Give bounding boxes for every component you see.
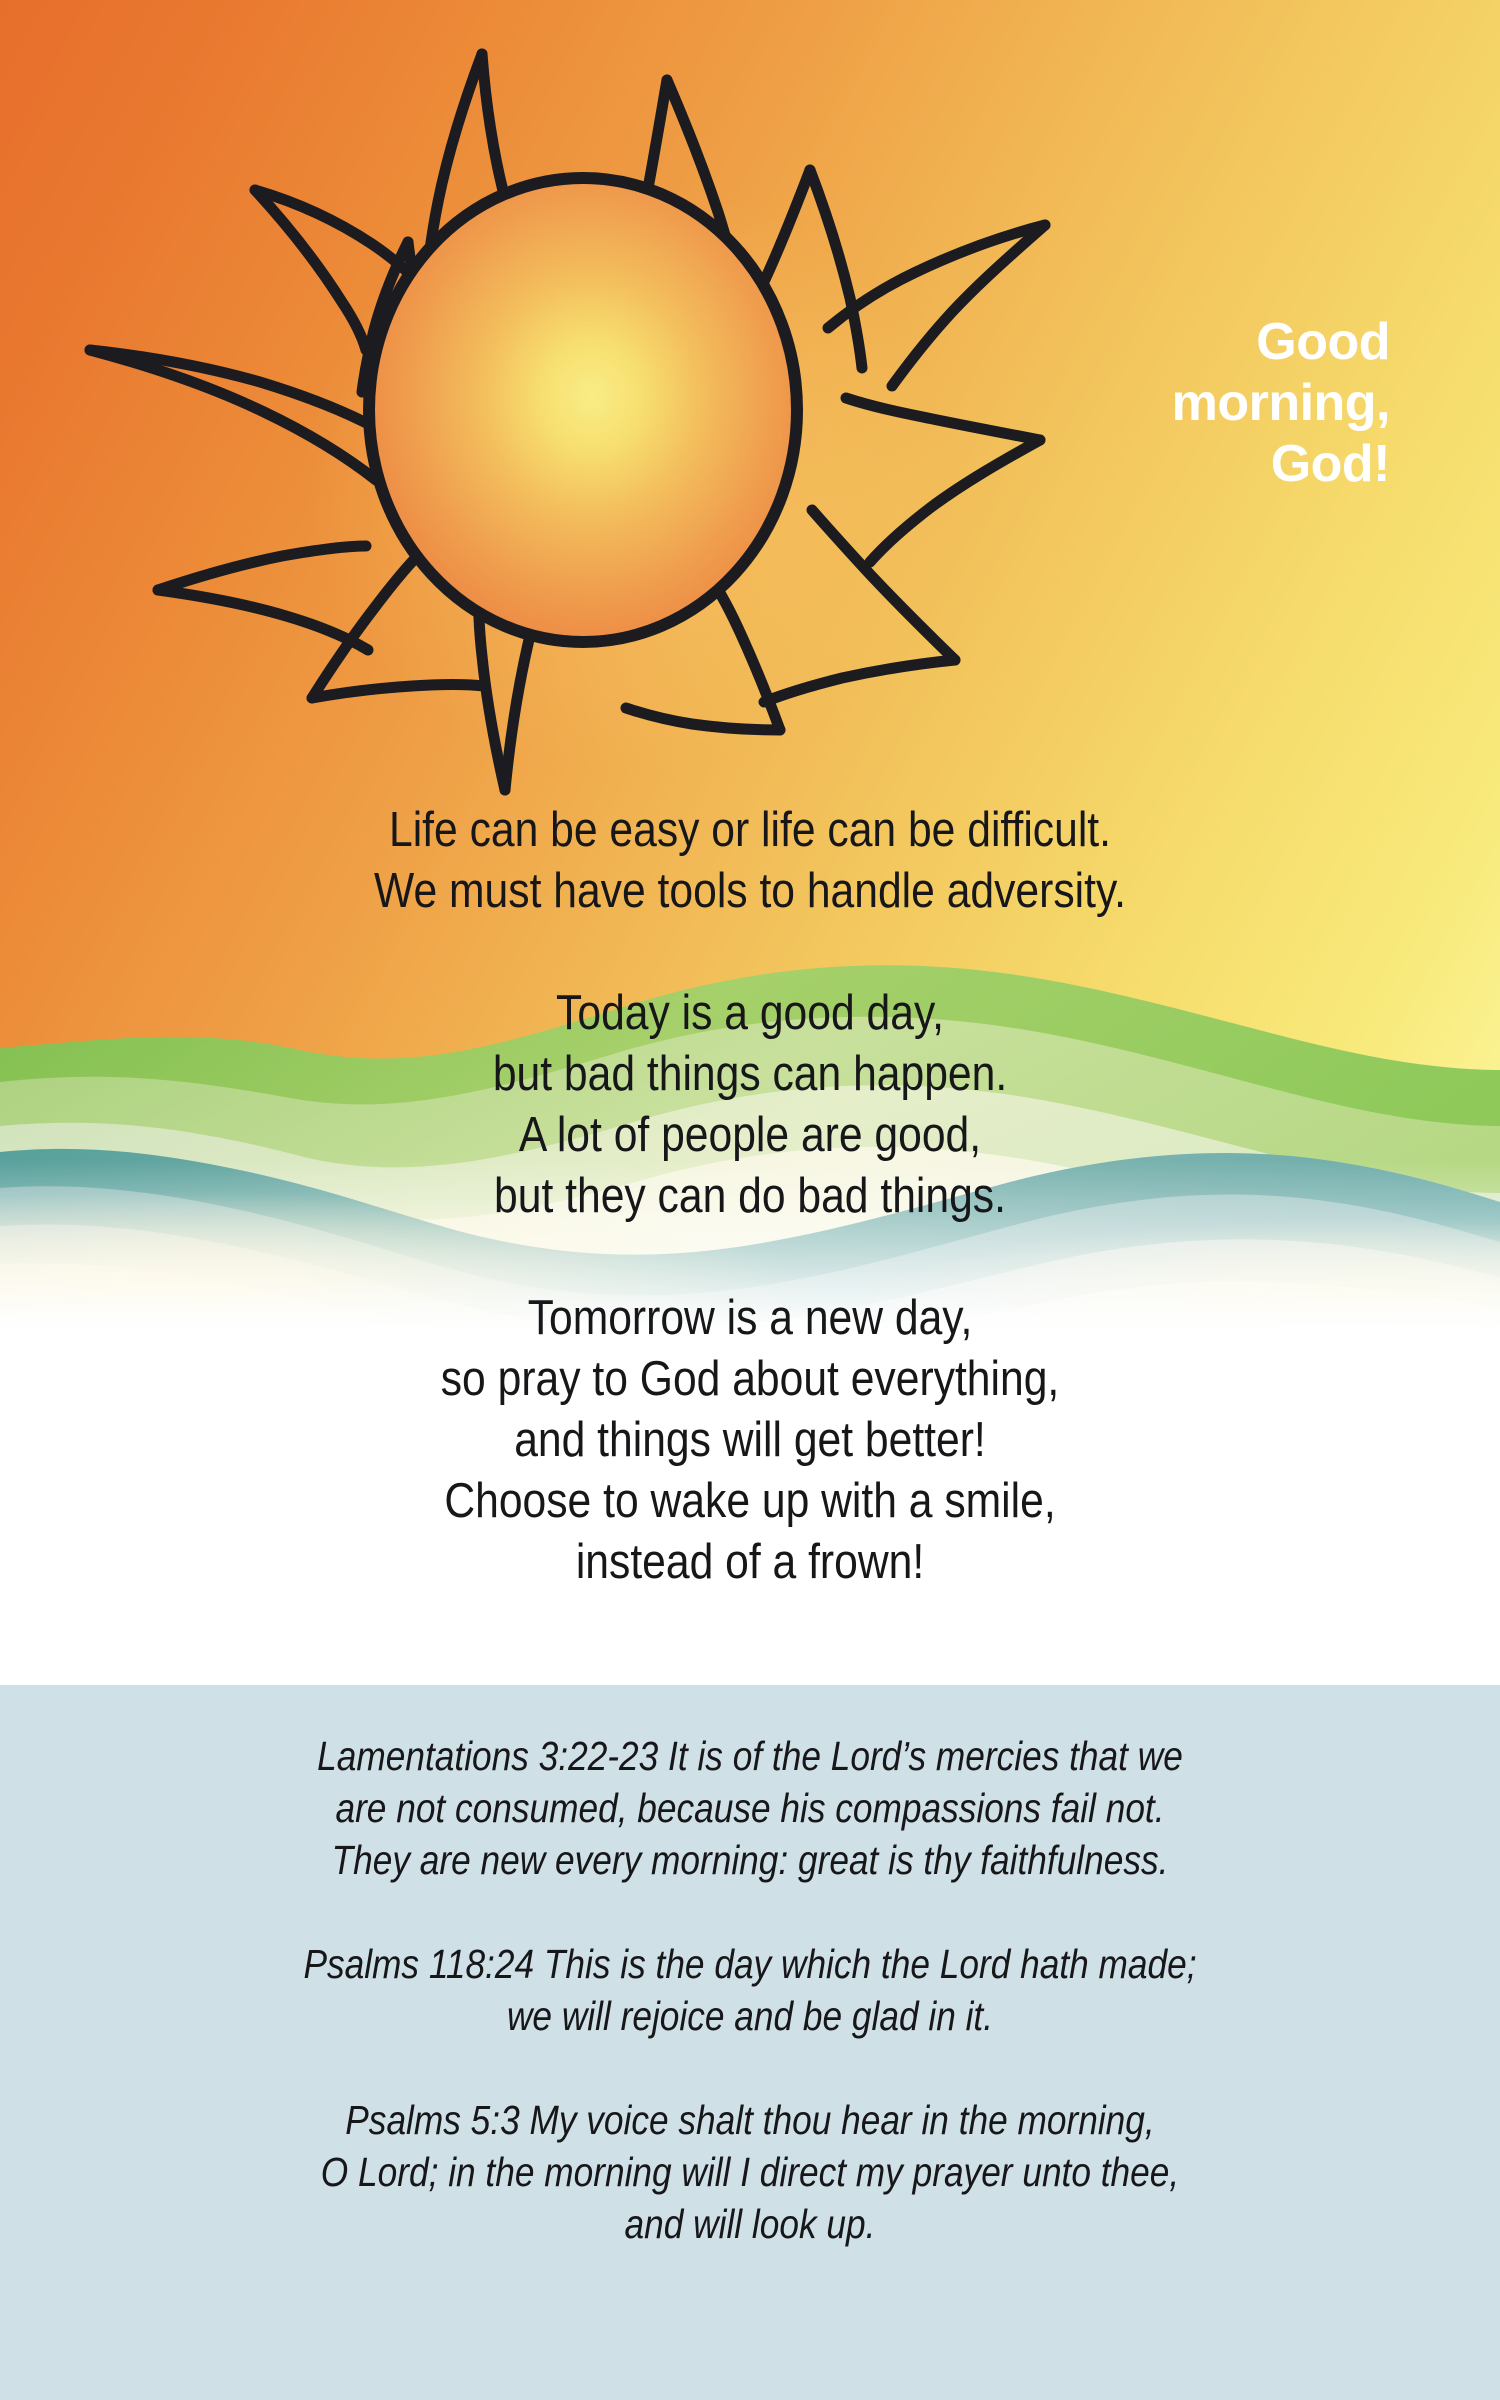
scripture-verse-psalms-118: Psalms 118:24 This is the day which the … [105, 1938, 1395, 2042]
scripture-verses: Lamentations 3:22-23 It is of the Lord’s… [105, 1730, 1395, 2250]
poem-stanza: Life can be easy or life can be difficul… [98, 800, 1403, 922]
devotional-poster: Good morning, God! Life can be easy or l… [0, 0, 1500, 2400]
poem-stanza: Tomorrow is a new day, so pray to God ab… [98, 1288, 1403, 1593]
scripture-verse-lamentations: Lamentations 3:22-23 It is of the Lord’s… [105, 1730, 1395, 1886]
sun-icon [50, 20, 1050, 810]
poem-body: Life can be easy or life can be difficul… [98, 800, 1403, 1593]
poem-stanza: Today is a good day, but bad things can … [98, 983, 1403, 1227]
scripture-verse-psalms-5: Psalms 5:3 My voice shalt thou hear in t… [105, 2094, 1395, 2250]
greeting-title: Good morning, God! [1020, 312, 1390, 494]
